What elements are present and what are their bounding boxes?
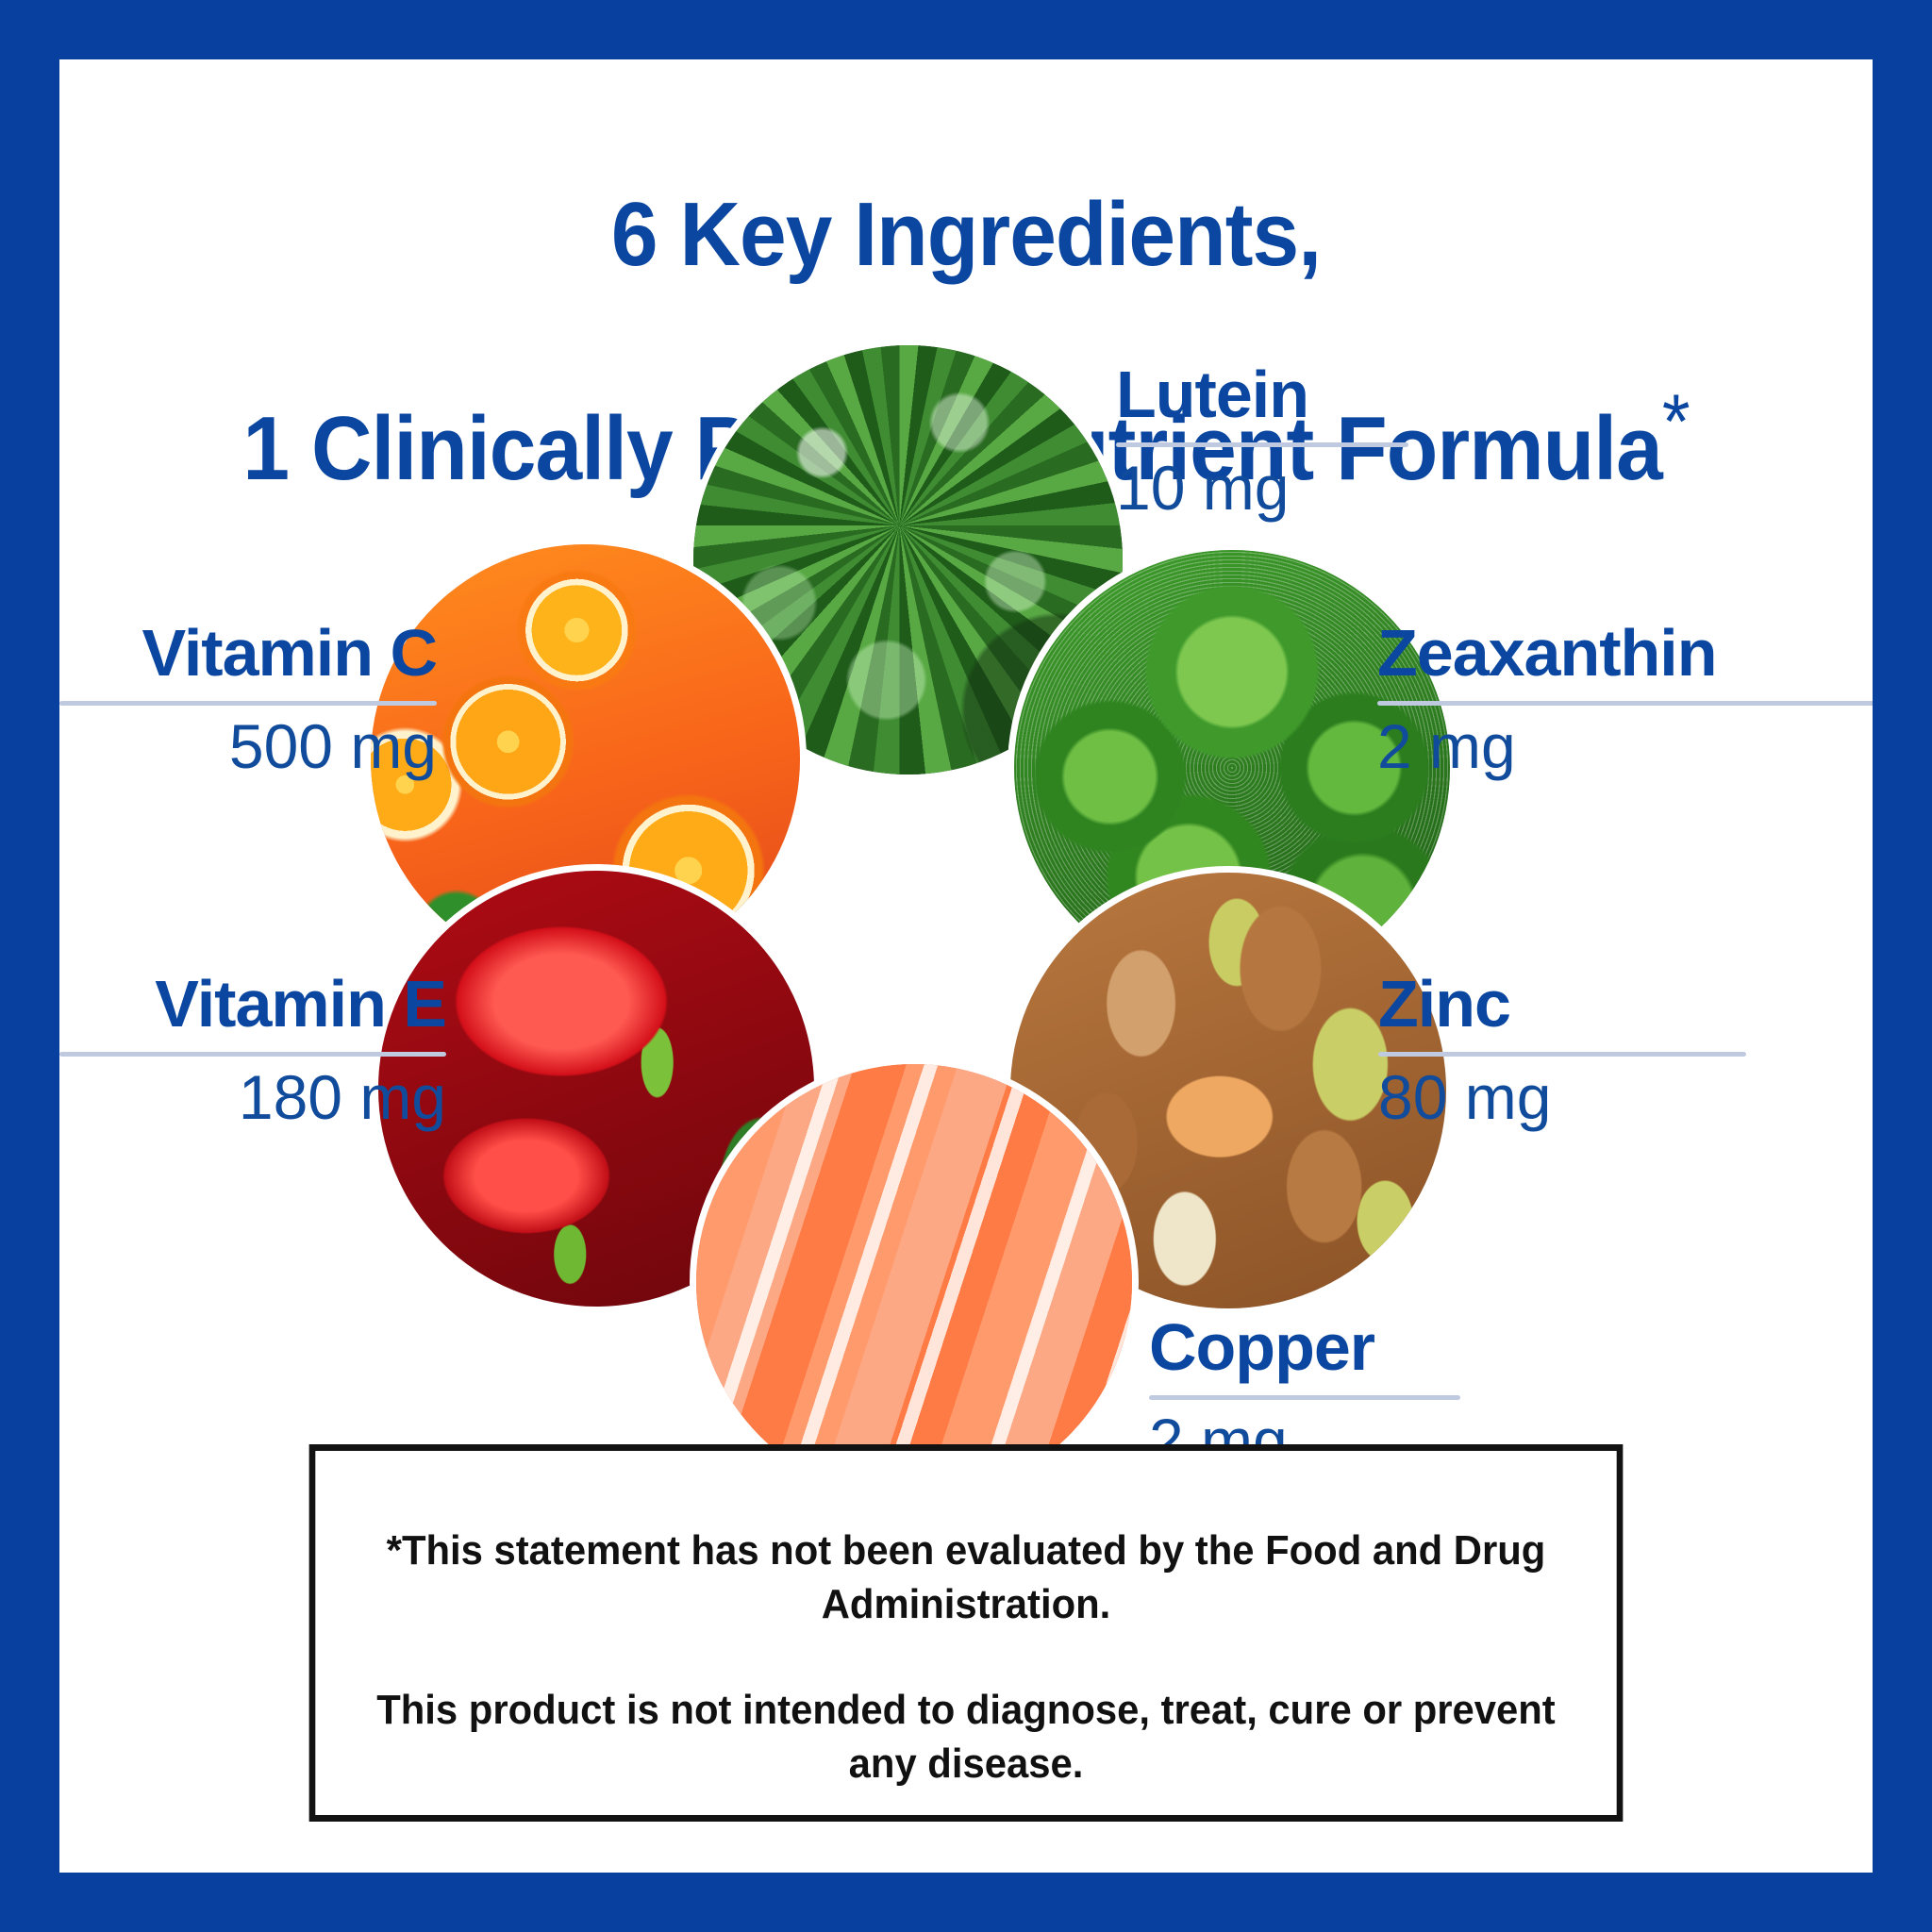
- title-asterisk: *: [1662, 379, 1690, 465]
- ingredient-name: Lutein: [1116, 361, 1408, 427]
- label-rule: [1149, 1395, 1460, 1400]
- fda-disclaimer-box: *This statement has not been evaluated b…: [309, 1444, 1624, 1822]
- ingredient-name: Copper: [1149, 1314, 1460, 1380]
- ingredient-name: Vitamin E: [59, 971, 446, 1037]
- label-zeaxanthin: Zeaxanthin 2 mg: [1377, 620, 1873, 777]
- label-vitamin-c: Vitamin C 500 mg: [59, 620, 437, 777]
- label-rule: [1116, 442, 1408, 447]
- ingredient-amount: 80 mg: [1378, 1066, 1746, 1128]
- disclaimer-line-2: This product is not intended to diagnose…: [376, 1687, 1556, 1786]
- ingredient-amount: 500 mg: [59, 715, 437, 777]
- label-rule: [59, 1052, 446, 1057]
- ingredient-name: Vitamin C: [59, 620, 437, 686]
- ingredient-amount: 10 mg: [1116, 457, 1408, 519]
- label-vitamin-e: Vitamin E 180 mg: [59, 971, 446, 1128]
- salmon-photo: [696, 1064, 1132, 1500]
- label-lutein: Lutein 10 mg: [1116, 361, 1408, 519]
- label-rule: [59, 701, 437, 706]
- ingredient-image-salmon: [696, 1064, 1132, 1500]
- disclaimer-line-1: *This statement has not been evaluated b…: [387, 1527, 1546, 1626]
- label-zinc: Zinc 80 mg: [1378, 971, 1746, 1128]
- label-rule: [1378, 1052, 1746, 1057]
- ingredient-amount: 180 mg: [59, 1066, 446, 1128]
- title-line-1: 6 Key Ingredients,: [611, 184, 1321, 285]
- label-rule: [1377, 701, 1873, 706]
- ingredient-name: Zinc: [1378, 971, 1746, 1037]
- blue-border-frame: 6 Key Ingredients, 1 Clinically Proven N…: [0, 0, 1932, 1932]
- ingredient-name: Zeaxanthin: [1377, 620, 1873, 686]
- ingredient-amount: 2 mg: [1377, 715, 1873, 777]
- infographic-canvas: 6 Key Ingredients, 1 Clinically Proven N…: [59, 59, 1873, 1873]
